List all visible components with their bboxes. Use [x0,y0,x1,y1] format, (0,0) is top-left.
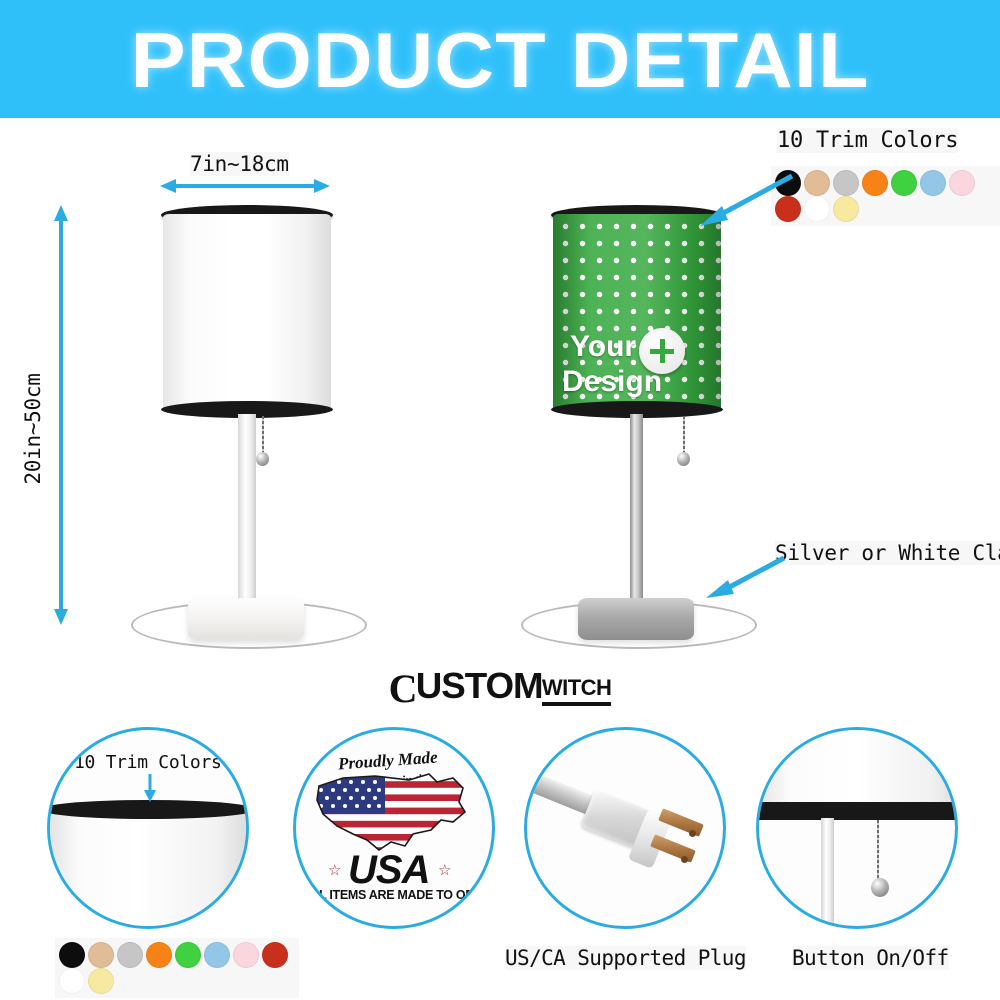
design-lamp-pole [630,414,643,604]
trim-swatch-orange[interactable] [862,170,888,196]
base-note-label: Silver or White Classy [775,541,1000,565]
trim-swatch-gray[interactable] [833,170,859,196]
plus-icon[interactable] [639,328,685,374]
switch-caption: Button On/Off [792,946,949,970]
usa-badge-country: USA [348,848,429,893]
trim-swatch-red[interactable] [262,942,288,968]
width-dimension-label: 7in~18cm [190,152,289,176]
design-lamp-chain-ball[interactable] [677,452,690,466]
trim-feature-inner-label: 10 Trim Colors [74,752,222,773]
white-lamp-chain-ball[interactable] [256,452,269,466]
usa-map-flag-icon [313,768,475,854]
trim-swatch-pink[interactable] [233,942,259,968]
usa-badge-subtitle: ALL ITEMS ARE MADE TO ORDER! [303,888,495,902]
feature-circle-made-in-usa: Proudly Made in the [293,727,495,929]
trim-swatch-orange[interactable] [146,942,172,968]
plug-prong-lower-hole [681,856,688,863]
trim-feature-shade [47,808,249,929]
brand-logo: CUSTOMWITCH [0,665,1000,712]
trim-colors-label-top: 10 Trim Colors [777,128,958,153]
logo-sub-text: WITCH [542,675,612,706]
feature-circle-plug [524,727,726,929]
design-text-line1: Your [570,330,636,363]
page-title: PRODUCT DETAIL [0,19,1000,101]
trim-swatch-yellow[interactable] [833,196,859,222]
switch-feature-trim-band [756,802,958,820]
plug-prong-upper-hole [689,830,696,837]
trim-colors-swatches-top[interactable] [771,166,1000,226]
trim-feature-trim-band [47,800,249,819]
switch-feature-shade [756,727,958,806]
trim-swatch-yellow[interactable] [88,968,114,994]
trim-swatch-tan[interactable] [804,170,830,196]
white-lamp-pole [238,414,256,604]
trim-swatch-black[interactable] [59,942,85,968]
white-lamp-base [188,598,304,640]
trim-swatch-white[interactable] [804,196,830,222]
trim-swatch-light-blue[interactable] [204,942,230,968]
header-banner: PRODUCT DETAIL [0,0,1000,118]
logo-c-glyph: C [389,665,418,712]
logo-main-text: USTOM [416,665,543,707]
usa-star-right-icon: ☆ [438,861,451,879]
trim-swatch-green[interactable] [175,942,201,968]
plug-prong-lower [650,834,696,863]
trim-swatch-white[interactable] [59,968,85,994]
trim-swatch-green[interactable] [891,170,917,196]
trim-colors-arrow-top [692,168,800,230]
base-note-arrow [700,552,790,600]
feature-circle-switch [756,727,958,929]
trim-swatch-pink[interactable] [949,170,975,196]
trim-swatch-light-blue[interactable] [920,170,946,196]
design-text-line2: Design [562,365,662,398]
height-dimension-arrow [50,205,72,625]
switch-chain-ball[interactable] [871,878,889,897]
white-lamp-shade [163,214,331,412]
switch-feature-pole [821,818,834,928]
height-dimension-label: 20in~50cm [21,369,45,489]
switch-pull-chain[interactable] [877,820,879,884]
trim-colors-swatches-bottom[interactable] [55,938,299,998]
trim-swatch-gray[interactable] [117,942,143,968]
usa-star-left-icon: ☆ [328,861,341,879]
trim-swatch-tan[interactable] [88,942,114,968]
feature-circle-trim-colors: 10 Trim Colors [47,727,249,929]
plug-caption: US/CA Supported Plug [505,946,746,970]
trim-feature-arrow [140,774,160,802]
width-dimension-arrow [160,175,330,197]
design-lamp-base [578,598,694,640]
